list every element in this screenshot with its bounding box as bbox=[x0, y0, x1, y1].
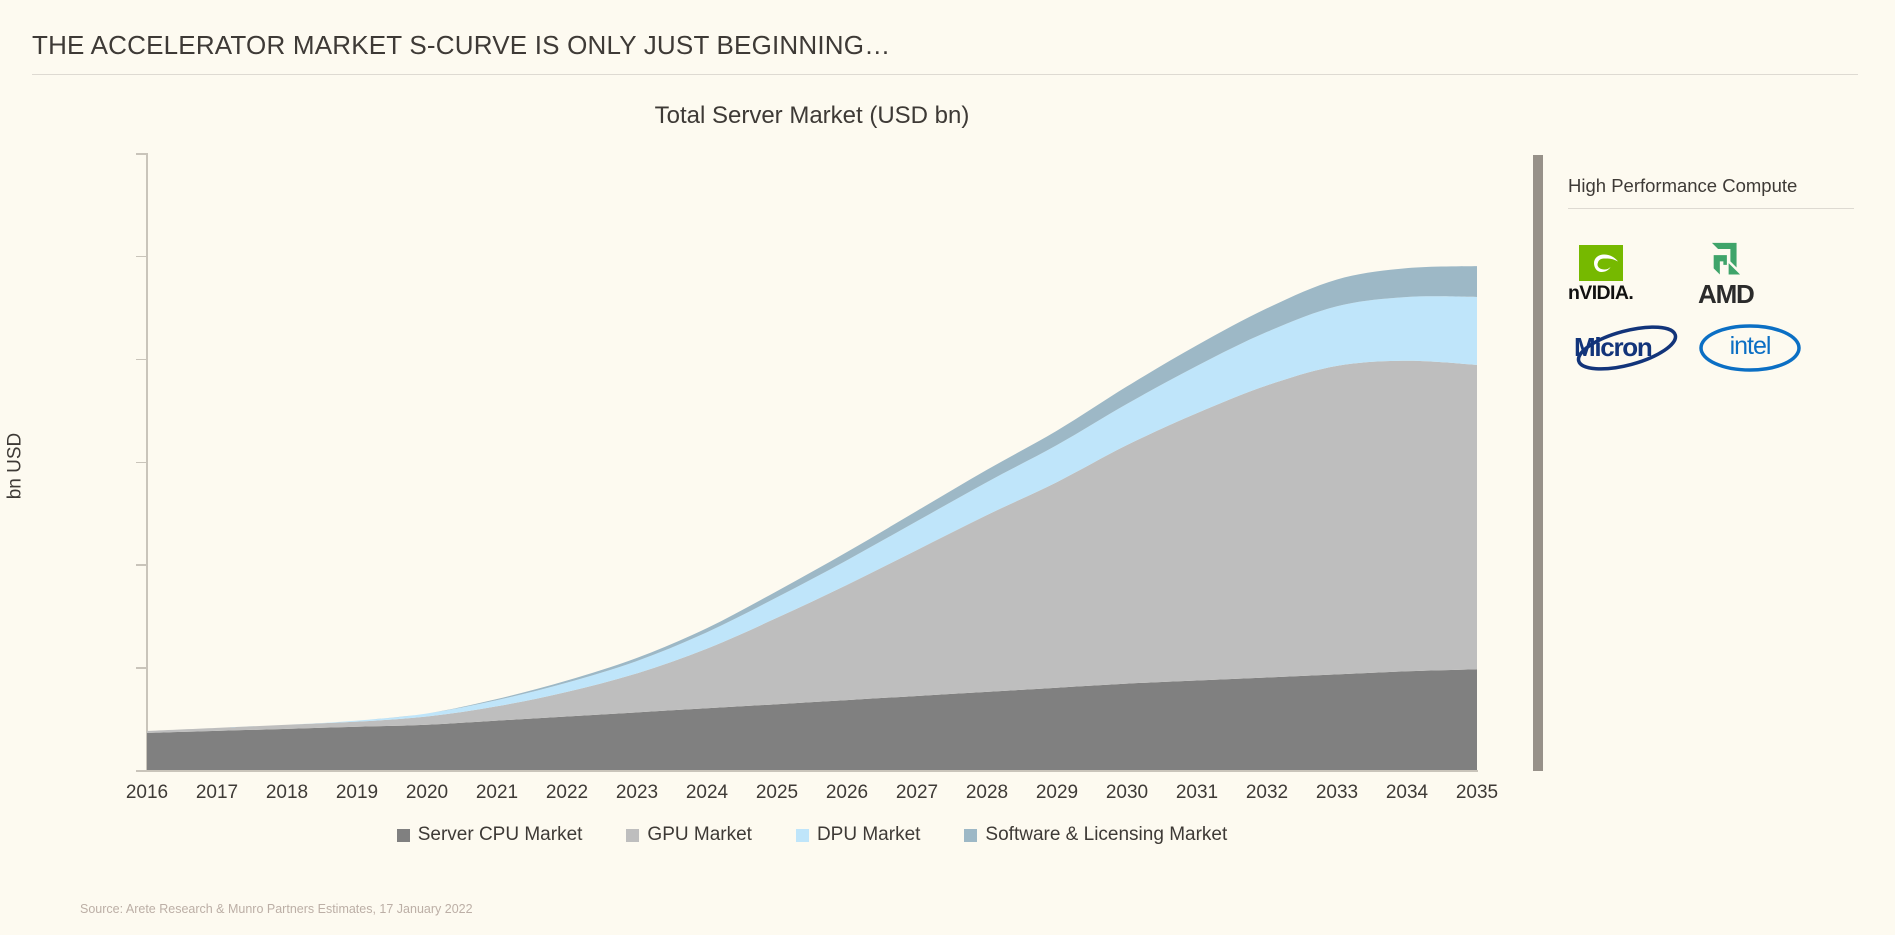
legend-label: Server CPU Market bbox=[418, 824, 583, 846]
legend-label: DPU Market bbox=[817, 824, 920, 846]
amd-arrow-icon bbox=[1704, 240, 1748, 280]
logo-micron: Micron bbox=[1568, 325, 1680, 371]
logo-grid: nVIDIA. AMD Micron bbox=[1568, 235, 1868, 379]
y-tick-mark bbox=[136, 770, 146, 772]
y-tick-mark bbox=[136, 564, 146, 566]
x-tick-label: 2032 bbox=[1227, 782, 1307, 804]
source-note: Source: Arete Research & Munro Partners … bbox=[80, 902, 473, 916]
logo-nvidia: nVIDIA. bbox=[1568, 243, 1680, 304]
y-tick-mark bbox=[136, 462, 146, 464]
high-performance-compute-panel: High Performance Compute nVIDIA. bbox=[1568, 175, 1868, 379]
x-tick-label: 2035 bbox=[1437, 782, 1517, 804]
chart-plot-area: bn USD 050100150200250300 20162017201820… bbox=[0, 0, 1600, 830]
x-tick-label: 2034 bbox=[1367, 782, 1447, 804]
panel-divider bbox=[1568, 208, 1854, 209]
y-tick-mark bbox=[136, 256, 146, 258]
legend-item[interactable]: Software & Licensing Market bbox=[964, 824, 1227, 846]
y-tick-mark bbox=[136, 153, 146, 155]
x-tick-label: 2030 bbox=[1087, 782, 1167, 804]
x-axis-line bbox=[146, 770, 1478, 772]
panel-accent-bar bbox=[1533, 155, 1543, 771]
x-tick-label: 2017 bbox=[177, 782, 257, 804]
legend-label: GPU Market bbox=[647, 824, 752, 846]
legend-item[interactable]: Server CPU Market bbox=[397, 824, 583, 846]
x-tick-label: 2023 bbox=[597, 782, 677, 804]
y-tick-mark bbox=[136, 667, 146, 669]
x-tick-label: 2019 bbox=[317, 782, 397, 804]
x-tick-label: 2029 bbox=[1017, 782, 1097, 804]
nvidia-eye-icon bbox=[1576, 243, 1626, 283]
x-tick-label: 2016 bbox=[107, 782, 187, 804]
x-tick-label: 2033 bbox=[1297, 782, 1377, 804]
x-tick-label: 2018 bbox=[247, 782, 327, 804]
x-tick-label: 2026 bbox=[807, 782, 887, 804]
legend-item[interactable]: DPU Market bbox=[796, 824, 920, 846]
nvidia-wordmark: nVIDIA. bbox=[1568, 284, 1633, 304]
chart-legend: Server CPU MarketGPU MarketDPU MarketSof… bbox=[147, 824, 1477, 846]
x-tick-label: 2027 bbox=[877, 782, 957, 804]
slide-root: THE ACCELERATOR MARKET S-CURVE IS ONLY J… bbox=[0, 0, 1895, 935]
x-tick-label: 2025 bbox=[737, 782, 817, 804]
intel-wordmark: intel bbox=[1698, 334, 1802, 359]
x-tick-label: 2024 bbox=[667, 782, 747, 804]
logo-amd: AMD bbox=[1698, 240, 1820, 307]
legend-swatch-icon bbox=[397, 829, 410, 842]
legend-swatch-icon bbox=[626, 829, 639, 842]
panel-title: High Performance Compute bbox=[1568, 175, 1868, 197]
amd-wordmark: AMD bbox=[1698, 281, 1754, 307]
x-tick-label: 2028 bbox=[947, 782, 1027, 804]
x-tick-label: 2031 bbox=[1157, 782, 1237, 804]
logo-intel: intel bbox=[1698, 323, 1820, 373]
legend-swatch-icon bbox=[796, 829, 809, 842]
micron-wordmark: Micron bbox=[1574, 334, 1651, 360]
x-tick-label: 2020 bbox=[387, 782, 467, 804]
y-tick-mark bbox=[136, 359, 146, 361]
stacked-area-chart bbox=[147, 153, 1477, 770]
x-tick-label: 2022 bbox=[527, 782, 607, 804]
y-axis-label: bn USD bbox=[4, 433, 26, 500]
x-tick-label: 2021 bbox=[457, 782, 537, 804]
legend-swatch-icon bbox=[964, 829, 977, 842]
legend-item[interactable]: GPU Market bbox=[626, 824, 752, 846]
legend-label: Software & Licensing Market bbox=[985, 824, 1227, 846]
area-series-group bbox=[147, 153, 1477, 770]
